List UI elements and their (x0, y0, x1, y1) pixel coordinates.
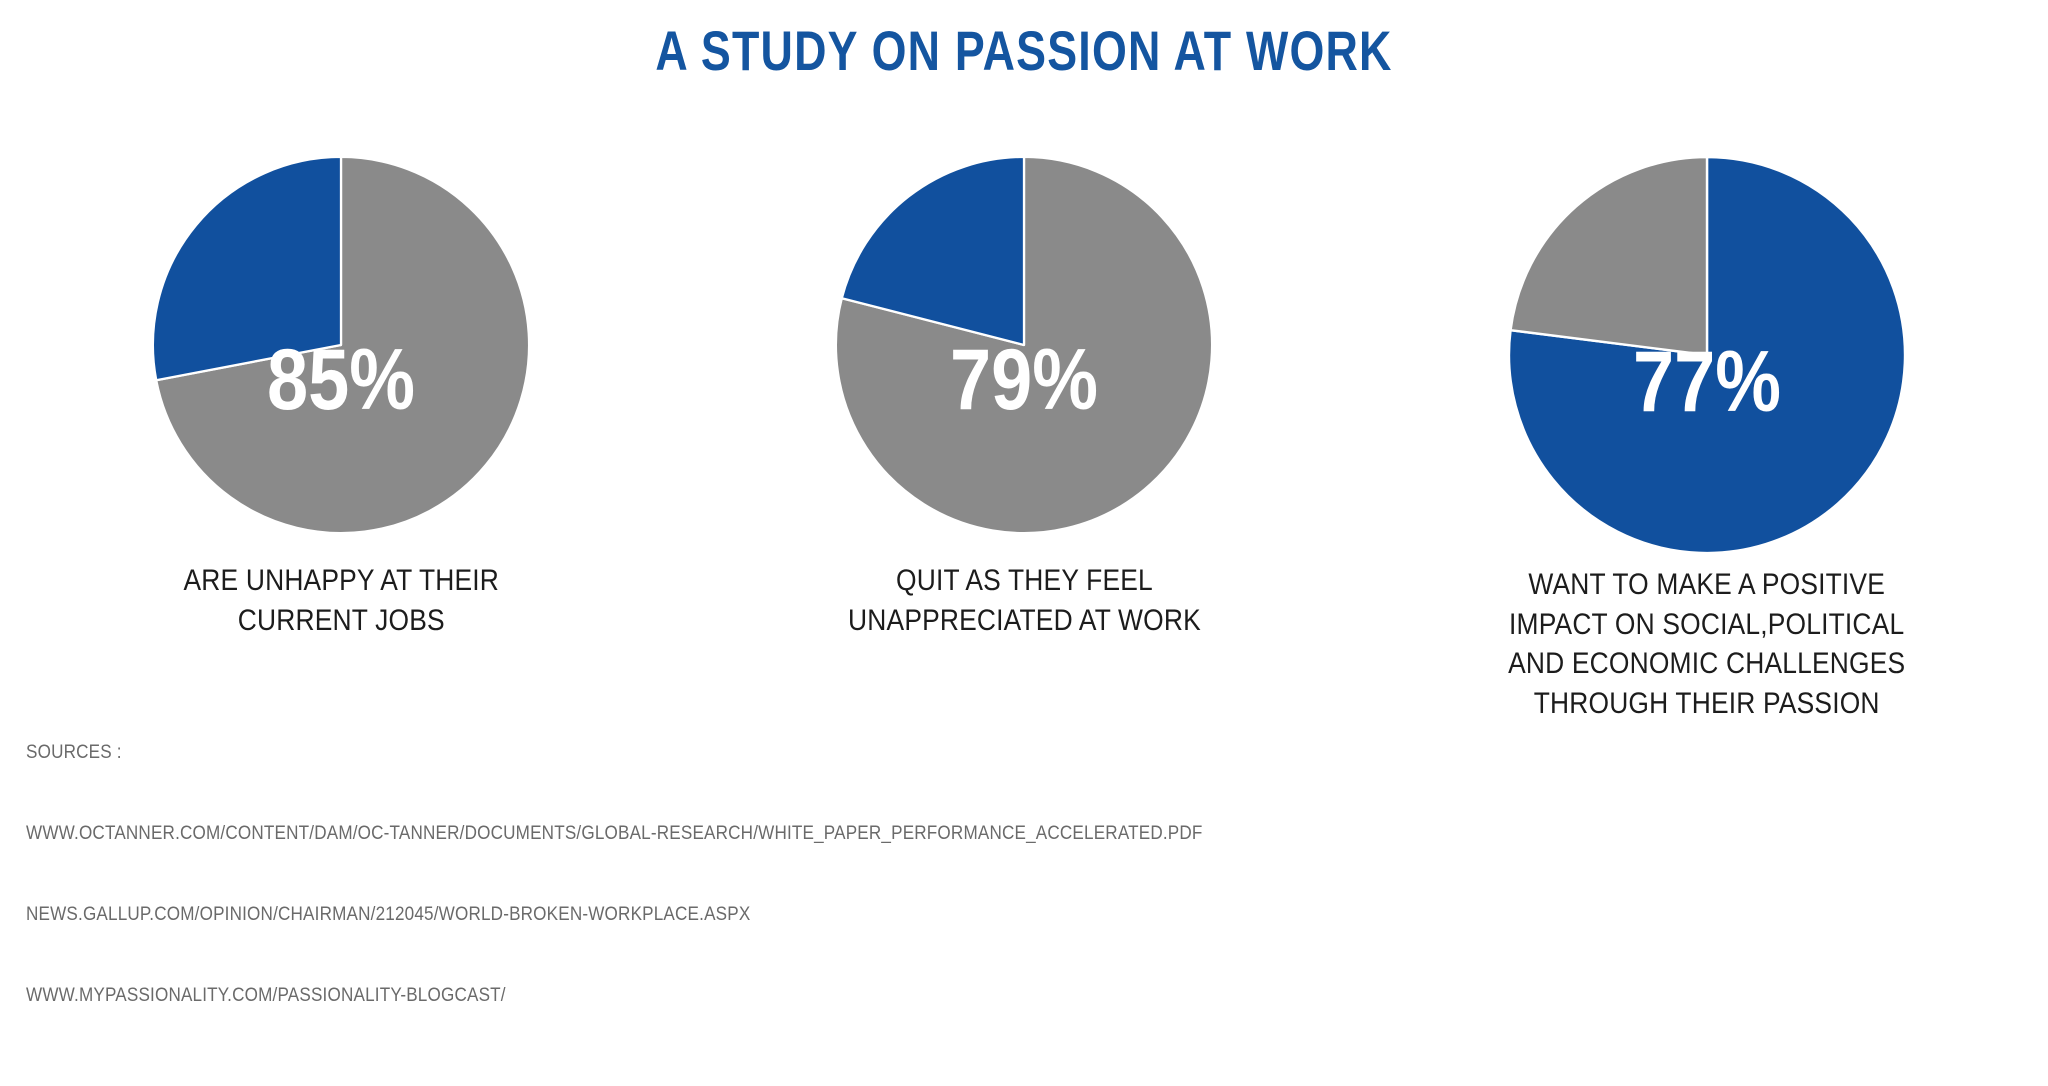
pie-slice[interactable] (153, 157, 341, 380)
pie-slices-unappreciated (836, 157, 1212, 533)
sources-block: SOURCES : WWW.OCTANNER.COM/CONTENT/DAM/O… (26, 686, 1203, 1064)
pie-caption-unappreciated: QUIT AS THEY FEEL UNAPPRECIATED AT WORK (848, 561, 1201, 640)
source-link-gallup[interactable]: NEWS.GALLUP.COM/OPINION/CHAIRMAN/212045/… (26, 902, 1203, 929)
pie-slices-positive-impact (1509, 157, 1905, 553)
charts-row: 85% ARE UNHAPPY AT THEIR CURRENT JOBS 79… (0, 155, 2048, 775)
source-link-octanner[interactable]: WWW.OCTANNER.COM/CONTENT/DAM/OC-TANNER/D… (26, 821, 1203, 848)
pie-chart-positive-impact[interactable]: 77% (1507, 155, 1907, 555)
pie-svg-unhappy (151, 155, 531, 535)
sources-heading: SOURCES : (26, 740, 1203, 767)
chart-block-unappreciated: 79% QUIT AS THEY FEEL UNAPPRECIATED AT W… (714, 155, 1334, 640)
pie-caption-unhappy: ARE UNHAPPY AT THEIR CURRENT JOBS (184, 561, 500, 640)
pie-svg-unappreciated (834, 155, 1214, 535)
infographic-canvas: A STUDY ON PASSION AT WORK 85% ARE UNHAP… (0, 0, 2048, 1086)
pie-slices-unhappy (153, 157, 529, 533)
pie-svg-positive-impact (1507, 155, 1907, 555)
page-title: A STUDY ON PASSION AT WORK (205, 20, 1843, 82)
pie-slice[interactable] (1510, 157, 1706, 355)
source-link-mypassionality[interactable]: WWW.MYPASSIONALITY.COM/PASSIONALITY-BLOG… (26, 983, 1203, 1010)
pie-chart-unappreciated[interactable]: 79% (834, 155, 1214, 535)
pie-chart-unhappy[interactable]: 85% (151, 155, 531, 535)
chart-block-unhappy: 85% ARE UNHAPPY AT THEIR CURRENT JOBS (31, 155, 651, 640)
chart-block-positive-impact: 77% WANT TO MAKE A POSITIVE IMPACT ON SO… (1397, 155, 2017, 723)
pie-caption-positive-impact: WANT TO MAKE A POSITIVE IMPACT ON SOCIAL… (1508, 565, 1905, 723)
